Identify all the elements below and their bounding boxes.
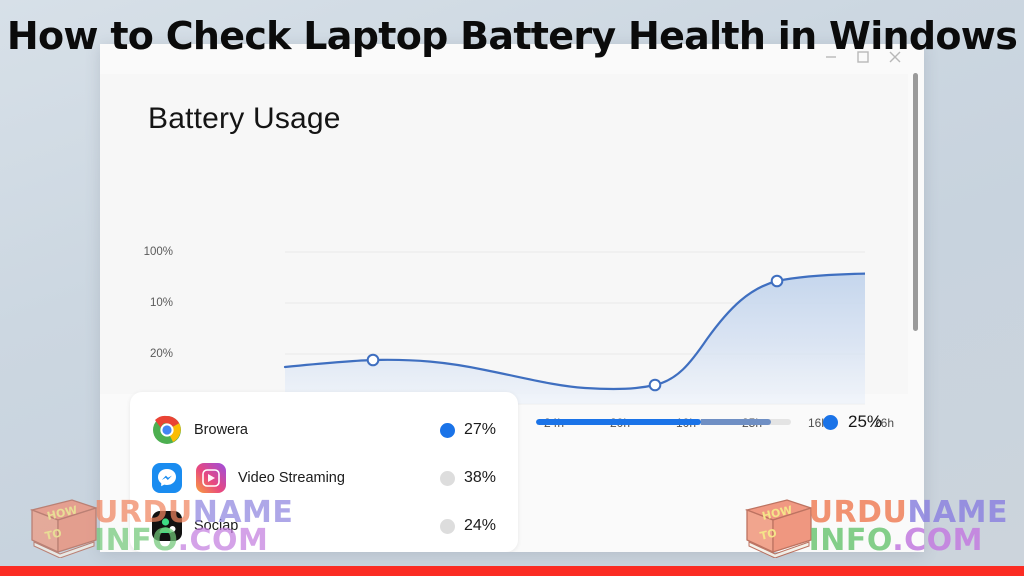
status-dot	[440, 519, 455, 534]
list-item[interactable]: Video Streaming 38%	[130, 454, 518, 502]
status-dot	[823, 415, 838, 430]
bottom-red-bar	[0, 566, 1024, 576]
y-axis-label-0: 100%	[113, 246, 173, 258]
chart-title: Battery Usage	[148, 102, 341, 136]
battery-usage-chart: 100% 10% 20% 0h	[185, 164, 865, 409]
chart-marker[interactable]	[368, 355, 379, 366]
scrollbar-thumb[interactable]	[913, 73, 918, 331]
app-percent: 24%	[464, 517, 496, 535]
chart-marker[interactable]	[772, 276, 783, 287]
messenger-icon	[152, 463, 182, 493]
app-name: Browera	[194, 422, 248, 438]
y-axis-label-2: 20%	[113, 348, 173, 360]
vertical-scrollbar[interactable]	[911, 68, 921, 528]
battery-progress-row: 25%	[536, 410, 896, 434]
app-percent-group: 38%	[440, 469, 496, 487]
app-name: Video Streaming	[238, 470, 345, 486]
progress-fill-secondary	[701, 419, 771, 425]
progress-percent: 25%	[848, 412, 882, 432]
chart-marker[interactable]	[650, 380, 661, 391]
video-camera-icon	[196, 463, 226, 493]
list-item[interactable]: Browera 27%	[130, 406, 518, 454]
battery-usage-card: Battery Usage 100% 10% 20% 0h	[100, 74, 908, 394]
app-usage-card: Browera 27%	[130, 392, 518, 552]
y-axis-label-1: 10%	[113, 297, 173, 309]
svg-text:HOW: HOW	[46, 503, 79, 523]
app-name: Sociap	[194, 518, 238, 534]
how-to-book-icon: HOW TO	[28, 496, 100, 558]
chart-plot-svg	[185, 164, 865, 409]
app-percent-group: 27%	[440, 421, 496, 439]
svg-text:TO: TO	[44, 526, 63, 542]
status-dot	[440, 471, 455, 486]
progress-slider[interactable]	[536, 419, 791, 425]
page-title: How to Check Laptop Battery Health in Wi…	[0, 14, 1024, 58]
app-percent: 27%	[464, 421, 496, 439]
social-person-icon	[152, 511, 182, 541]
list-item[interactable]: Sociap 24%	[130, 502, 518, 550]
app-window: Battery Usage 100% 10% 20% 0h	[100, 44, 924, 552]
app-percent: 38%	[464, 469, 496, 487]
app-percent-group: 24%	[440, 517, 496, 535]
chrome-icon	[152, 415, 182, 445]
status-dot	[440, 423, 455, 438]
progress-fill-primary	[536, 419, 701, 425]
